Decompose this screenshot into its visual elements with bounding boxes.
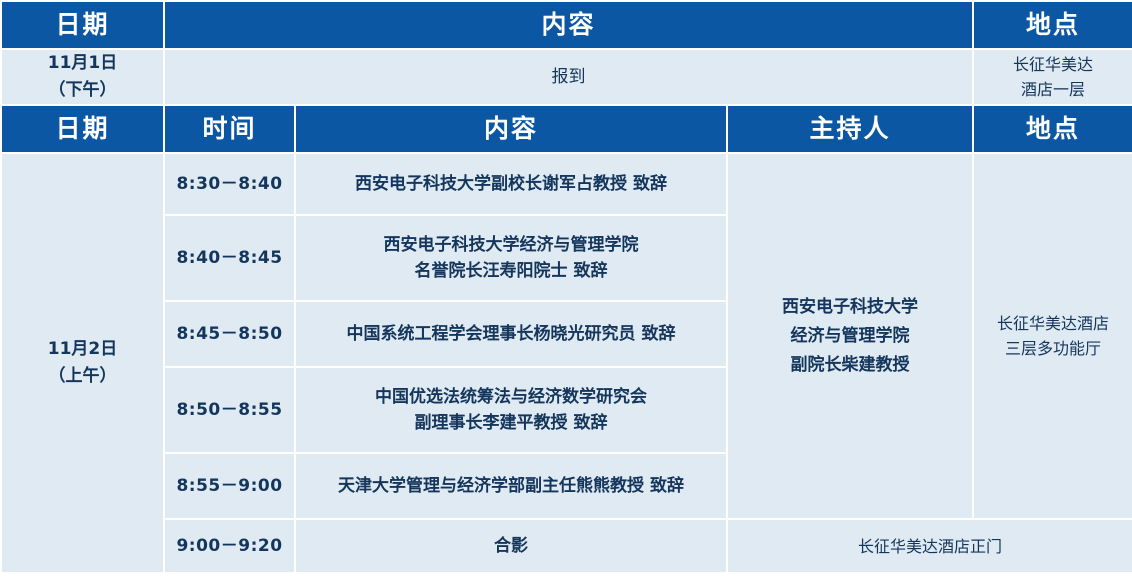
row-content: 合影 <box>295 519 727 573</box>
header-content-2: 内容 <box>295 105 727 153</box>
row-time: 9:00－9:20 <box>164 519 295 573</box>
header-place-1: 地点 <box>973 1 1132 49</box>
row-time: 8:45－8:50 <box>164 301 295 367</box>
registration-place: 长征华美达 酒店一层 <box>973 49 1132 105</box>
row-content: 中国优选法统筹法与经济数学研究会 副理事长李建平教授 致辞 <box>295 367 727 453</box>
registration-content: 报到 <box>164 49 973 105</box>
day2-host: 西安电子科技大学 经济与管理学院 副院长柴建教授 <box>727 153 973 519</box>
table-header-row-1: 日期 内容 地点 <box>1 1 1132 49</box>
header-date-2: 日期 <box>1 105 164 153</box>
table-row-registration: 11月1日 （下午） 报到 长征华美达 酒店一层 <box>1 49 1132 105</box>
header-time-2: 时间 <box>164 105 295 153</box>
table-row: 9:00－9:20 合影 长征华美达酒店正门 <box>1 519 1132 573</box>
row-content: 西安电子科技大学经济与管理学院 名誉院长汪寿阳院士 致辞 <box>295 215 727 301</box>
row-time: 8:50－8:55 <box>164 367 295 453</box>
row-content: 中国系统工程学会理事长杨晓光研究员 致辞 <box>295 301 727 367</box>
row-content: 西安电子科技大学副校长谢军占教授 致辞 <box>295 153 727 215</box>
schedule-table: 日期 内容 地点 11月1日 （下午） 报到 长征华美达 酒店一层 日期 时间 … <box>0 0 1132 574</box>
header-place-2: 地点 <box>973 105 1132 153</box>
header-content-1: 内容 <box>164 1 973 49</box>
day2-place-last: 长征华美达酒店正门 <box>727 519 1132 573</box>
table-header-row-2: 日期 时间 内容 主持人 地点 <box>1 105 1132 153</box>
table-row: 11月2日 （上午） 8:30－8:40 西安电子科技大学副校长谢军占教授 致辞… <box>1 153 1132 215</box>
header-host-2: 主持人 <box>727 105 973 153</box>
row-time: 8:30－8:40 <box>164 153 295 215</box>
registration-date: 11月1日 （下午） <box>1 49 164 105</box>
day2-place: 长征华美达酒店 三层多功能厅 <box>973 153 1132 519</box>
row-content: 天津大学管理与经济学部副主任熊熊教授 致辞 <box>295 453 727 519</box>
day2-date: 11月2日 （上午） <box>1 153 164 573</box>
row-time: 8:40－8:45 <box>164 215 295 301</box>
row-time: 8:55－9:00 <box>164 453 295 519</box>
header-date-1: 日期 <box>1 1 164 49</box>
